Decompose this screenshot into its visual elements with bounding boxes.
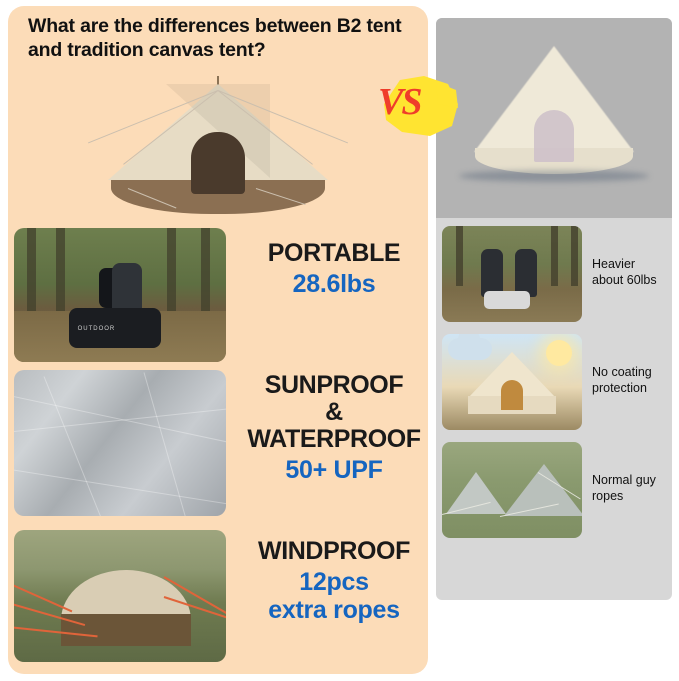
caption-line2: about 60lbs — [592, 272, 672, 288]
tent-left — [446, 472, 506, 514]
feature-title-line3: WATERPROOF — [236, 426, 428, 453]
right-row-normal-guy-ropes-text: Normal guy ropes — [592, 472, 672, 504]
feature-value-line2: extra ropes — [236, 597, 428, 625]
hiker-figure-left — [481, 249, 503, 297]
infographic-page: What are the differences between B2 tent… — [0, 0, 679, 681]
photo-grey-tents-with-guy-ropes — [442, 442, 582, 538]
feature-portable-text: PORTABLE 28.6lbs — [236, 240, 428, 299]
tent-right — [504, 464, 582, 516]
forest-scene: OUTDOOR — [14, 228, 226, 362]
hero-b2-tent-image — [68, 76, 368, 226]
tent-door — [534, 110, 574, 162]
feature-sunproof-text: SUNPROOF & WATERPROOF 50+ UPF — [236, 372, 428, 485]
feature-title: WINDPROOF — [236, 538, 428, 565]
tent-door — [191, 132, 245, 194]
tree-trunk — [27, 228, 36, 322]
tent-ground-shadow — [459, 170, 649, 182]
page-title: What are the differences between B2 tent… — [28, 14, 418, 63]
vs-badge: VS — [378, 74, 464, 140]
feature-value-line1: 12pcs — [236, 569, 428, 597]
tree-trunk — [551, 226, 558, 286]
tree-trunk — [456, 226, 463, 286]
forest-trail-scene — [442, 226, 582, 322]
hiker-figure — [112, 263, 142, 315]
campsite-scene — [442, 442, 582, 538]
photo-fabric-closeup — [14, 370, 226, 516]
fabric-surface — [14, 370, 226, 516]
weather-scene — [442, 334, 582, 430]
right-row-heavier-text: Heavier about 60lbs — [592, 256, 672, 288]
fabric-crease — [14, 407, 226, 433]
photo-two-hikers-carrying-bag — [442, 226, 582, 322]
fabric-crease — [44, 376, 112, 516]
photo-traditional-canvas-bell-tent — [436, 18, 672, 218]
tree-trunk — [571, 226, 578, 286]
feature-title: PORTABLE — [236, 240, 428, 267]
vs-label: VS — [378, 80, 420, 124]
tree-trunk — [56, 228, 65, 322]
right-comparison-panel: Heavier about 60lbs No coating protectio… — [436, 18, 672, 600]
photo-tent-with-orange-guy-ropes — [14, 530, 226, 662]
feature-title-line2: & — [236, 399, 428, 426]
tree-trunk — [201, 228, 210, 322]
carried-bag — [484, 291, 530, 309]
feature-windproof-text: WINDPROOF 12pcs extra ropes — [236, 538, 428, 624]
tree-trunk — [167, 228, 176, 322]
feature-value: 28.6lbs — [236, 271, 428, 299]
fabric-crease — [14, 468, 226, 507]
tent-lower-wall — [61, 614, 191, 646]
campsite-scene — [14, 530, 226, 662]
caption-line1: No coating — [592, 364, 672, 380]
right-row-no-coating-text: No coating protection — [592, 364, 672, 396]
caption-line2: ropes — [592, 488, 672, 504]
photo-tent-sun-and-rain-cloud — [442, 334, 582, 430]
photo-backpacker-with-duffel: OUTDOOR — [14, 228, 226, 362]
left-comparison-panel: What are the differences between B2 tent… — [8, 6, 428, 674]
duffel-brand-text: OUTDOOR — [78, 326, 116, 332]
caption-line2: protection — [592, 380, 672, 396]
tent-door — [501, 380, 523, 410]
caption-line1: Heavier — [592, 256, 672, 272]
feature-value: 50+ UPF — [236, 457, 428, 485]
feature-title-line1: SUNPROOF — [236, 372, 428, 399]
caption-line1: Normal guy — [592, 472, 672, 488]
hiker-figure-right — [515, 249, 537, 297]
